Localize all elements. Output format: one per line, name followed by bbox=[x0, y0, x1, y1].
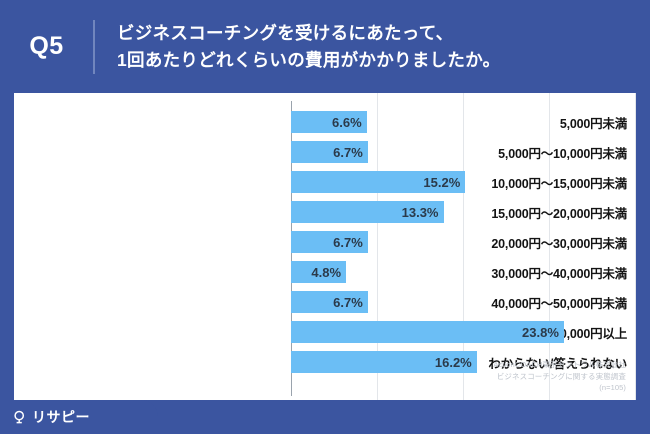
chart-bar: 13.3% bbox=[291, 201, 444, 223]
question-header: Q5 ビジネスコーチングを受けるにあたって、 1回あたりどれくらいの費用がかかり… bbox=[0, 0, 650, 93]
chart-bar-container: 6.7% bbox=[291, 291, 368, 313]
question-title-line1: ビジネスコーチングを受けるにあたって、 bbox=[117, 20, 500, 47]
question-number: Q5 bbox=[0, 32, 93, 61]
chart-bar-container: 23.8% bbox=[291, 321, 564, 343]
chart-bar-value: 6.7% bbox=[333, 235, 368, 250]
question-title-line2: 1回あたりどれくらいの費用がかかりましたか。 bbox=[117, 47, 500, 74]
chart-category-label: 30,000円〜40,000円未満 bbox=[359, 263, 636, 282]
chart-bar: 15.2% bbox=[291, 171, 465, 193]
chart-bar: 6.7% bbox=[291, 291, 368, 313]
chart-bar-value: 6.7% bbox=[333, 145, 368, 160]
header-divider bbox=[93, 20, 95, 74]
chart-bar-rows: 5,000円未満6.6%5,000円〜10,000円未満6.7%10,000円〜… bbox=[14, 93, 636, 400]
magnifier-icon bbox=[13, 410, 27, 424]
chart-bar: 16.2% bbox=[291, 351, 477, 373]
chart-bar-row: 5,000円〜10,000円未満6.7% bbox=[14, 141, 636, 163]
chart-bar-container: 13.3% bbox=[291, 201, 444, 223]
question-title: ビジネスコーチングを受けるにあたって、 1回あたりどれくらいの費用がかかりました… bbox=[117, 20, 500, 73]
chart-bar-value: 4.8% bbox=[311, 265, 346, 280]
chart-bar-container: 16.2% bbox=[291, 351, 477, 373]
chart-category-label: 5,000円〜10,000円未満 bbox=[359, 143, 636, 162]
brand-logo-bar: リサピー bbox=[0, 400, 158, 434]
chart-category-label: 5,000円未満 bbox=[359, 113, 636, 132]
chart-bar-row: 10,000円〜15,000円未満15.2% bbox=[14, 171, 636, 193]
chart-card: 5,000円未満6.6%5,000円〜10,000円未満6.7%10,000円〜… bbox=[14, 93, 636, 400]
chart-bar-value: 16.2% bbox=[435, 355, 477, 370]
chart-footnote: ActionCOACH東京セントラル株式会社 ビジネスコーチングに関する実態調査… bbox=[493, 359, 626, 394]
chart-bar-container: 6.6% bbox=[291, 111, 367, 133]
chart-bar-row: 20,000円〜30,000円未満6.7% bbox=[14, 231, 636, 253]
chart-bar-value: 23.8% bbox=[522, 325, 564, 340]
chart-bar-value: 13.3% bbox=[402, 205, 444, 220]
brand-logo-text: リサピー bbox=[32, 407, 90, 427]
footnote-survey: ビジネスコーチングに関する実態調査 bbox=[493, 371, 626, 383]
chart-bar-value: 15.2% bbox=[423, 175, 465, 190]
chart-bar-row: 5,000円未満6.6% bbox=[14, 111, 636, 133]
chart-bar-value: 6.7% bbox=[333, 295, 368, 310]
chart-bar-row: 40,000円〜50,000円未満6.7% bbox=[14, 291, 636, 313]
chart-category-label: 20,000円〜30,000円未満 bbox=[359, 233, 636, 252]
chart-bar-container: 6.7% bbox=[291, 141, 368, 163]
chart-bar: 6.7% bbox=[291, 231, 368, 253]
chart-bar: 4.8% bbox=[291, 261, 346, 283]
footnote-company: ActionCOACH東京セントラル株式会社 bbox=[493, 359, 626, 371]
footnote-sample-size: (n=105) bbox=[493, 382, 626, 394]
chart-category-label: 40,000円〜50,000円未満 bbox=[359, 293, 636, 312]
chart-bar-row: 30,000円〜40,000円未満4.8% bbox=[14, 261, 636, 283]
chart-bar: 23.8% bbox=[291, 321, 564, 343]
chart-bar-container: 4.8% bbox=[291, 261, 346, 283]
chart-bar-container: 6.7% bbox=[291, 231, 368, 253]
chart-bar-container: 15.2% bbox=[291, 171, 465, 193]
chart-bar-row: 15,000円〜20,000円未満13.3% bbox=[14, 201, 636, 223]
chart-bar-value: 6.6% bbox=[332, 115, 367, 130]
chart-bar-row: 50,000円以上23.8% bbox=[14, 321, 636, 343]
chart-bar: 6.7% bbox=[291, 141, 368, 163]
chart-bar: 6.6% bbox=[291, 111, 367, 133]
